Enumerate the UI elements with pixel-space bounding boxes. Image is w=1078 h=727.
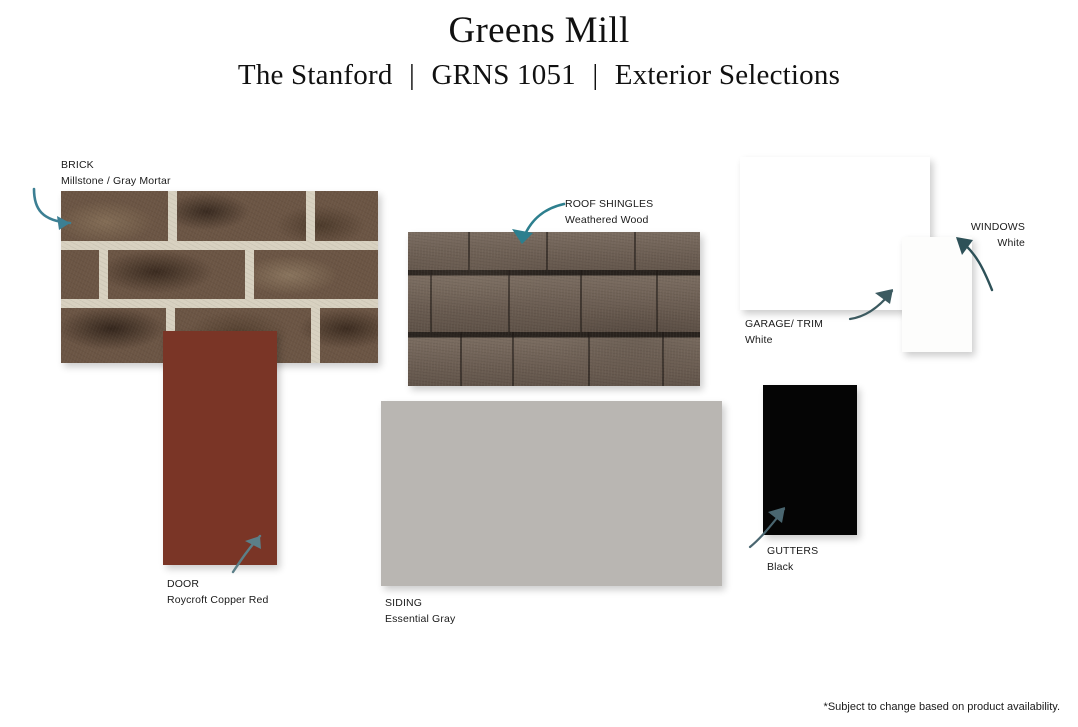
board-header: Greens Mill The Stanford | GRNS 1051 | E…: [0, 8, 1078, 94]
label-door-value: Roycroft Copper Red: [167, 592, 268, 608]
label-brick-value: Millstone / Gray Mortar: [61, 173, 171, 189]
label-gutters-category: GUTTERS: [767, 543, 818, 559]
swatch-windows: [902, 237, 972, 352]
label-roof-shingles: ROOF SHINGLES Weathered Wood: [565, 196, 653, 228]
subtitle-plan-name: The Stanford: [238, 59, 393, 91]
swatch-roof-shingles: [408, 232, 700, 386]
label-brick-category: BRICK: [61, 157, 171, 173]
label-siding-category: SIDING: [385, 595, 455, 611]
label-garage-trim-category: GARAGE/ TRIM: [745, 316, 823, 332]
label-roof-shingles-category: ROOF SHINGLES: [565, 196, 653, 212]
subtitle-separator-2: |: [583, 56, 607, 94]
page-subtitle: The Stanford | GRNS 1051 | Exterior Sele…: [0, 56, 1078, 94]
label-windows: WINDOWS White: [918, 219, 1025, 251]
swatch-door: [163, 331, 277, 565]
subtitle-section: Exterior Selections: [615, 59, 840, 91]
label-gutters: GUTTERS Black: [767, 543, 818, 575]
subtitle-lot-code: GRNS 1051: [431, 59, 575, 91]
label-siding: SIDING Essential Gray: [385, 595, 455, 627]
label-siding-value: Essential Gray: [385, 611, 455, 627]
swatch-gutters: [763, 385, 857, 535]
label-garage-trim-value: White: [745, 332, 823, 348]
label-gutters-value: Black: [767, 559, 818, 575]
shingle-texture-overlay: [408, 232, 700, 386]
label-windows-value: White: [918, 235, 1025, 251]
availability-footnote: *Subject to change based on product avai…: [824, 701, 1060, 713]
label-brick: BRICK Millstone / Gray Mortar: [61, 157, 171, 189]
exterior-selections-board: Greens Mill The Stanford | GRNS 1051 | E…: [0, 0, 1078, 727]
label-door: DOOR Roycroft Copper Red: [167, 576, 268, 608]
swatch-siding: [381, 401, 722, 586]
label-door-category: DOOR: [167, 576, 268, 592]
subtitle-separator-1: |: [400, 56, 424, 94]
page-title: Greens Mill: [0, 8, 1078, 54]
label-garage-trim: GARAGE/ TRIM White: [745, 316, 823, 348]
label-roof-shingles-value: Weathered Wood: [565, 212, 653, 228]
label-windows-category: WINDOWS: [918, 219, 1025, 235]
